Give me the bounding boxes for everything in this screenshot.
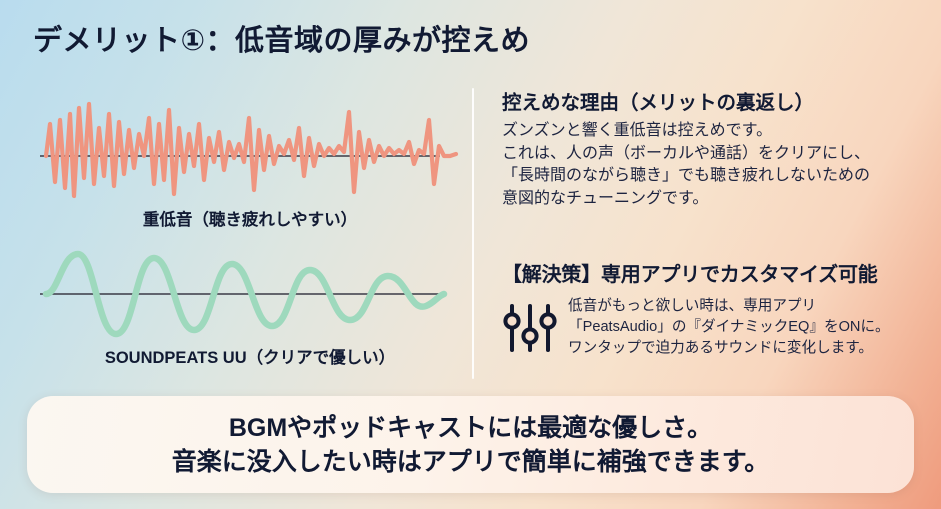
clear-wave-block: SOUNDPEATS UU（クリアで優しい） <box>40 246 460 368</box>
banner-line-1: BGMやポッドキャストには最適な優しさ。 <box>229 411 712 445</box>
equalizer-sliders-icon <box>502 300 558 356</box>
summary-banner: BGMやポッドキャストには最適な優しさ。 音楽に没入したい時はアプリで簡単に補強… <box>27 396 914 493</box>
solution-row: 低音がもっと欲しい時は、専用アプリ 「PeatsAudio」の『ダイナミックEQ… <box>502 296 932 359</box>
explanation-panel: 控えめな理由（メリットの裏返し） ズンズンと響く重低音は控えめです。 これは、人… <box>502 86 932 359</box>
reason-body: ズンズンと響く重低音は控えめです。 これは、人の声（ボーカルや通話）をクリアにし… <box>502 120 932 211</box>
reason-line-3: 「長時間のながら聴き」でも聴き疲れしないための <box>502 165 932 188</box>
clear-waveform-icon <box>40 246 460 342</box>
slide-canvas: デメリット①：低音域の厚みが控えめ 重低音（聴き疲れしやすい） SOUNDPEA… <box>0 0 941 509</box>
solution-body: 低音がもっと欲しい時は、専用アプリ 「PeatsAudio」の『ダイナミックEQ… <box>568 296 890 359</box>
waveform-panel: 重低音（聴き疲れしやすい） SOUNDPEATS UU（クリアで優しい） <box>40 84 460 384</box>
bass-waveform-icon <box>40 84 460 204</box>
clear-wave-caption: SOUNDPEATS UU（クリアで優しい） <box>40 344 460 368</box>
reason-line-2: これは、人の声（ボーカルや通話）をクリアにし、 <box>502 143 932 166</box>
solution-heading: 【解決策】専用アプリでカスタマイズ可能 <box>502 258 932 287</box>
solution-line-2: 「PeatsAudio」の『ダイナミックEQ』をONに。 <box>568 317 890 338</box>
panel-divider <box>472 88 474 379</box>
page-title: デメリット①：低音域の厚みが控えめ <box>33 17 530 59</box>
bass-wave-caption: 重低音（聴き疲れしやすい） <box>40 206 460 230</box>
bass-wave-block: 重低音（聴き疲れしやすい） <box>40 84 460 230</box>
reason-heading: 控えめな理由（メリットの裏返し） <box>502 86 932 115</box>
solution-line-3: ワンタップで迫力あるサウンドに変化します。 <box>568 338 890 359</box>
reason-line-1: ズンズンと響く重低音は控えめです。 <box>502 120 932 143</box>
banner-line-2: 音楽に没入したい時はアプリで簡単に補強できます。 <box>172 445 770 479</box>
reason-line-4: 意図的なチューニングです。 <box>502 188 932 211</box>
solution-line-1: 低音がもっと欲しい時は、専用アプリ <box>568 296 890 317</box>
